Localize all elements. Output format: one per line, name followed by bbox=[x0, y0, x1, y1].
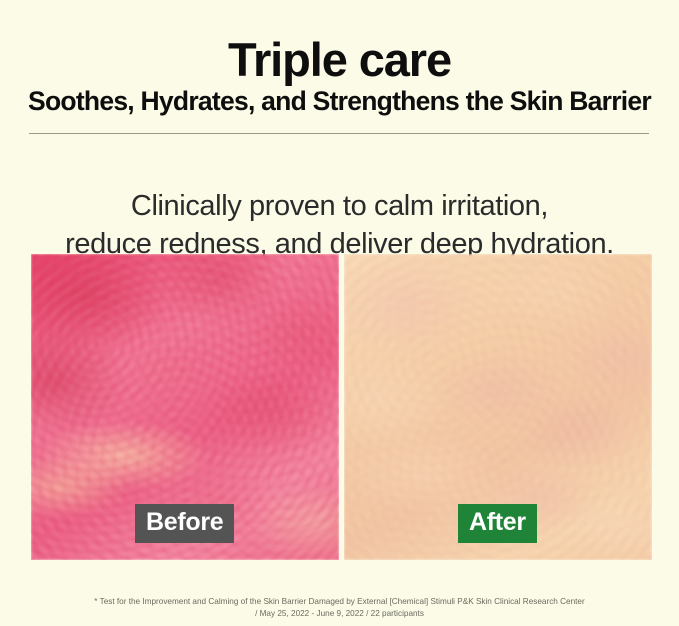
footnote: * Test for the Improvement and Calming o… bbox=[0, 596, 679, 619]
page-title: Triple care bbox=[0, 33, 679, 87]
lead-line-1: Clinically proven to calm irritation, bbox=[0, 187, 679, 225]
footnote-line-2: / May 25, 2022 - June 9, 2022 / 22 parti… bbox=[0, 608, 679, 620]
divider bbox=[29, 133, 649, 134]
after-image-panel: After bbox=[344, 254, 652, 560]
after-badge: After bbox=[458, 504, 537, 543]
footnote-line-1: * Test for the Improvement and Calming o… bbox=[0, 596, 679, 608]
before-after-comparison: Before After bbox=[31, 254, 652, 560]
before-badge: Before bbox=[135, 504, 234, 543]
lead-paragraph: Clinically proven to calm irritation, re… bbox=[0, 187, 679, 263]
before-image-panel: Before bbox=[31, 254, 339, 560]
promo-panel: Triple care Soothes, Hydrates, and Stren… bbox=[0, 0, 679, 626]
page-subtitle: Soothes, Hydrates, and Strengthens the S… bbox=[0, 84, 679, 118]
